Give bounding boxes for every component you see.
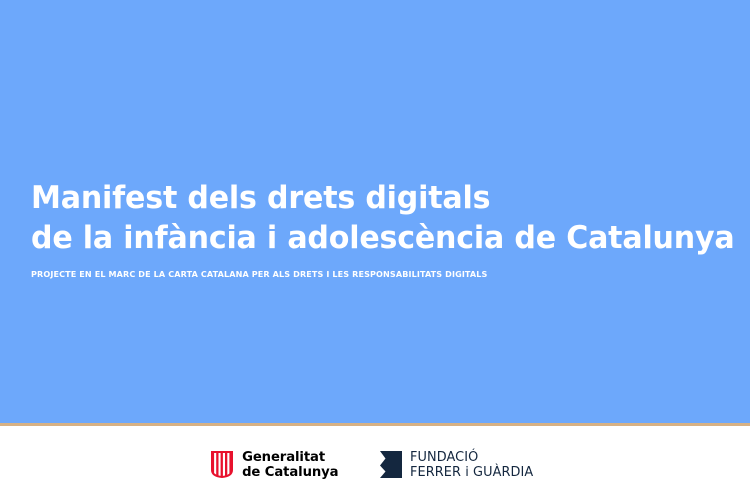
fundacio-wordmark: FUNDACIÓ FERRER i GUÀRDIA xyxy=(410,450,538,480)
fundacio-wordmark-line-2: FERRER i GUÀRDIA xyxy=(410,465,533,480)
catalan-senyera-shield-icon xyxy=(211,451,233,478)
presentation-slide: Manifest dels drets digitals de la infàn… xyxy=(0,0,750,503)
generalitat-wordmark: Generalitat de Catalunya xyxy=(242,450,338,480)
logo-generalitat-de-catalunya: Generalitat de Catalunya xyxy=(211,450,338,480)
page-title-line-1: Manifest dels drets digitals xyxy=(31,178,700,218)
fundacio-wordmark-line-1: FUNDACIÓ xyxy=(410,450,533,465)
page-subtitle: PROJECTE EN EL MARC DE LA CARTA CATALANA… xyxy=(31,269,711,280)
ferrer-guardia-flag-icon xyxy=(380,451,402,478)
footer-logo-bar: Generalitat de Catalunya FUNDACIÓ FERRER… xyxy=(0,426,750,503)
generalitat-wordmark-line-2: de Catalunya xyxy=(242,465,338,480)
generalitat-wordmark-line-1: Generalitat xyxy=(242,450,338,465)
logo-fundacio-ferrer-i-guardia: FUNDACIÓ FERRER i GUÀRDIA xyxy=(380,450,538,480)
page-title-line-2: de la infància i adolescència de Catalun… xyxy=(31,218,700,258)
title-block: Manifest dels drets digitals de la infàn… xyxy=(31,178,721,280)
